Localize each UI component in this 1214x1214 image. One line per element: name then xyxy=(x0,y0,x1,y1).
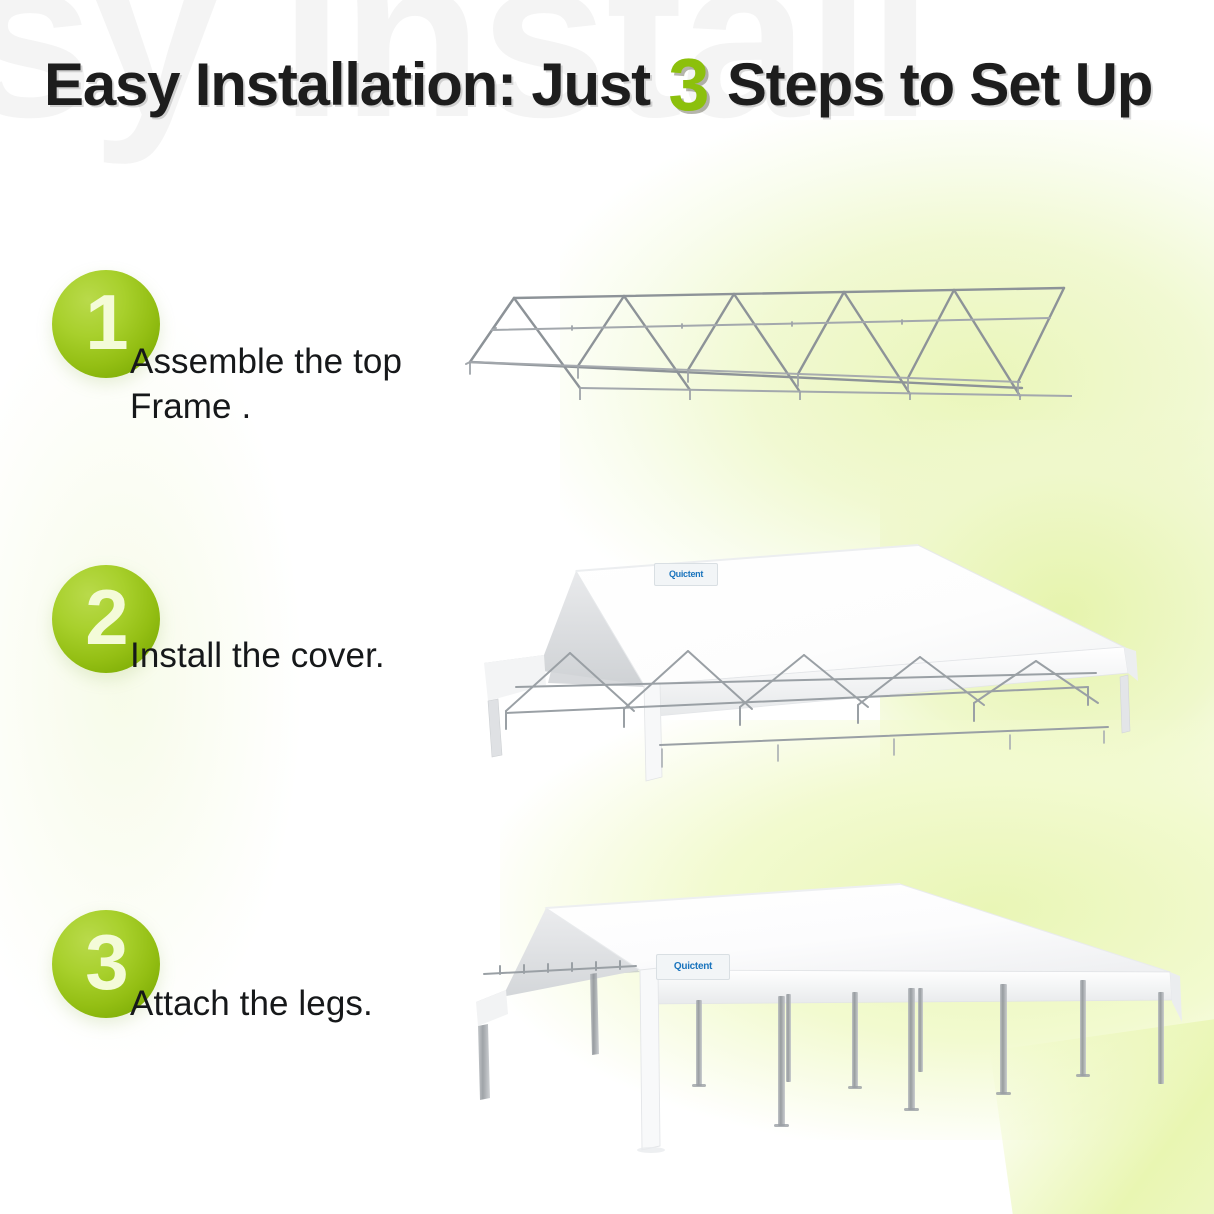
step-number-3: 3 xyxy=(85,923,126,1001)
illustration-frame-with-cover xyxy=(448,505,1148,795)
step-number-1: 1 xyxy=(85,283,126,361)
complete-tent-svg xyxy=(440,862,1185,1162)
illustration-complete-tent xyxy=(440,862,1185,1162)
illustration-roof-frame xyxy=(452,270,1072,400)
brand-logo-step-2: Quictent xyxy=(654,563,718,586)
step-label-3: Attach the legs. xyxy=(130,982,490,1027)
brand-logo-text: Quictent xyxy=(669,570,703,579)
infographic-page: sy install Easy Installation: Just 3 Ste… xyxy=(0,0,1214,1214)
step-label-1: Assemble the top Frame . xyxy=(130,340,490,430)
roof-frame-svg xyxy=(452,270,1072,400)
step-label-2: Install the cover. xyxy=(130,634,490,679)
frame-with-cover-svg xyxy=(448,505,1148,795)
step-number-2: 2 xyxy=(85,578,126,656)
page-title: Easy Installation: Just 3 Steps to Set U… xyxy=(44,52,1194,119)
page-title-prefix: Easy Installation: Just xyxy=(44,51,665,118)
page-title-suffix: Steps to Set Up xyxy=(711,51,1152,118)
brand-logo-text: Quictent xyxy=(674,962,712,972)
page-title-step-count: 3 xyxy=(665,52,711,119)
brand-logo-step-3: Quictent xyxy=(656,954,730,980)
